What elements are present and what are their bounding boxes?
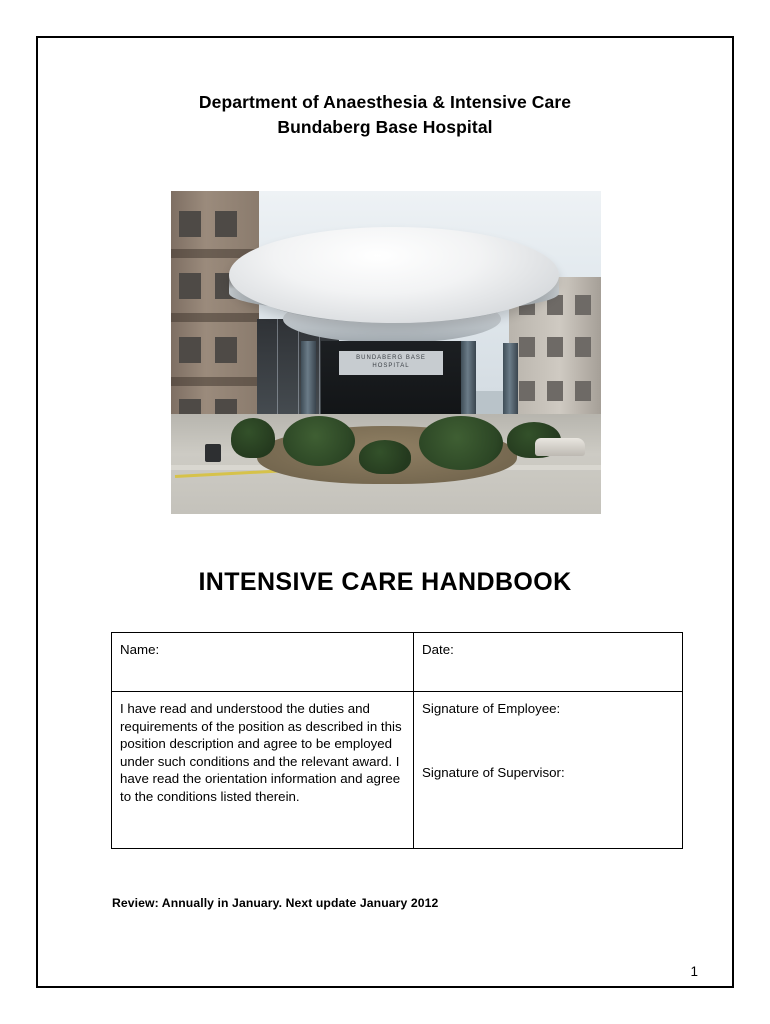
signature-employee-label: Signature of Employee:: [422, 700, 674, 718]
page-title: Department of Anaesthesia & Intensive Ca…: [38, 90, 732, 140]
cell-signatures: Signature of Employee: Signature of Supe…: [414, 692, 683, 849]
photo-palm-2: [419, 416, 503, 470]
photo-vehicle: [535, 438, 585, 456]
photo-canvas: BUNDABERG BASE HOSPITAL: [171, 191, 601, 514]
photo-shrub-1: [231, 418, 275, 458]
table-row: Name: Date:: [112, 633, 683, 692]
document-page: Department of Anaesthesia & Intensive Ca…: [36, 36, 734, 988]
signoff-table: Name: Date: I have read and understood t…: [111, 632, 683, 849]
heading-line-1: Department of Anaesthesia & Intensive Ca…: [38, 90, 732, 115]
cell-acknowledgement-text: I have read and understood the duties an…: [112, 692, 414, 849]
hospital-entrance-photo: BUNDABERG BASE HOSPITAL: [171, 191, 601, 514]
signature-supervisor-label: Signature of Supervisor:: [422, 764, 674, 782]
photo-canopy-roof: [229, 227, 559, 323]
page-number: 1: [690, 964, 698, 979]
photo-hospital-sign: BUNDABERG BASE HOSPITAL: [339, 351, 443, 375]
photo-shrub-2: [359, 440, 411, 474]
cell-name-label: Name:: [112, 633, 414, 692]
photo-bin: [205, 444, 221, 462]
heading-line-2: Bundaberg Base Hospital: [38, 115, 732, 140]
page-content: Department of Anaesthesia & Intensive Ca…: [38, 38, 732, 986]
signature-employee-space: [422, 718, 674, 764]
cell-date-label: Date:: [414, 633, 683, 692]
photo-left-building: [171, 191, 259, 441]
review-note: Review: Annually in January. Next update…: [112, 896, 438, 910]
handbook-title: INTENSIVE CARE HANDBOOK: [38, 568, 732, 597]
photo-palm-1: [283, 416, 355, 466]
table-row: I have read and understood the duties an…: [112, 692, 683, 849]
